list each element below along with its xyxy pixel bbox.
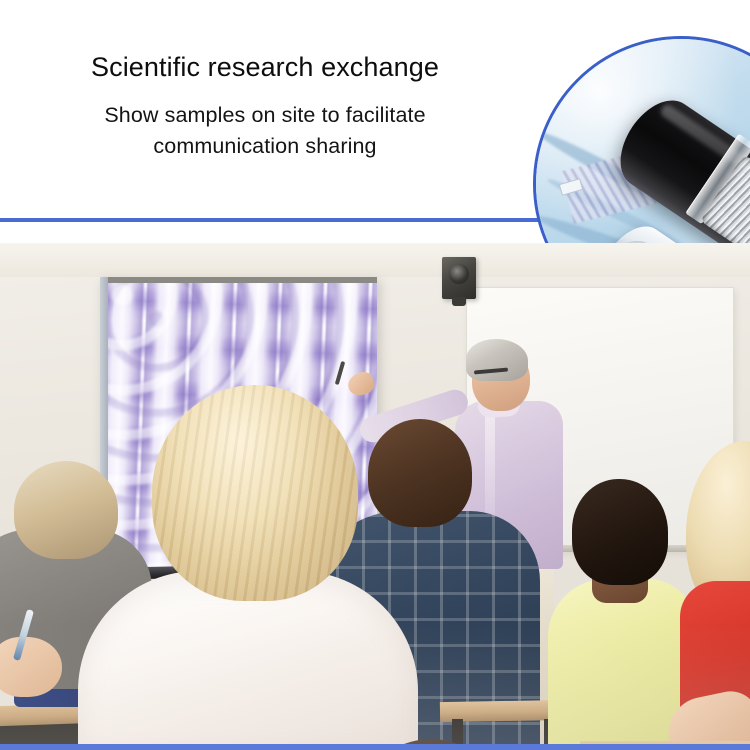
wall-speaker-mount — [452, 297, 466, 306]
footer-divider-line — [0, 744, 750, 750]
header-text-block: Scientific research exchange Show sample… — [0, 50, 530, 162]
student-plaid-shirt-head — [368, 419, 472, 527]
presenter-hair — [466, 339, 528, 381]
wall-speaker-icon — [442, 257, 476, 299]
page-root: Scientific research exchange Show sample… — [0, 0, 750, 750]
desk-leg — [452, 719, 463, 744]
page-subtitle-line-1: Show samples on site to facilitate — [0, 100, 530, 131]
student-grey-sweater-head — [14, 461, 118, 559]
room-wall-upper-band — [0, 243, 750, 277]
microscope-inset-circle — [533, 36, 750, 243]
page-title: Scientific research exchange — [0, 50, 530, 84]
student-blonde-white-top-hair — [152, 385, 358, 601]
microscope-inset-photo — [536, 39, 750, 243]
classroom-photo — [0, 243, 750, 744]
page-subtitle-line-2: communication sharing — [0, 131, 530, 162]
student-yellow-cardigan-head — [572, 479, 668, 585]
header-banner: Scientific research exchange Show sample… — [0, 0, 750, 243]
desk-leg — [0, 723, 80, 744]
page-subtitle: Show samples on site to facilitate commu… — [0, 100, 530, 162]
student-writing-hand — [0, 637, 62, 697]
header-divider-line — [0, 218, 558, 222]
